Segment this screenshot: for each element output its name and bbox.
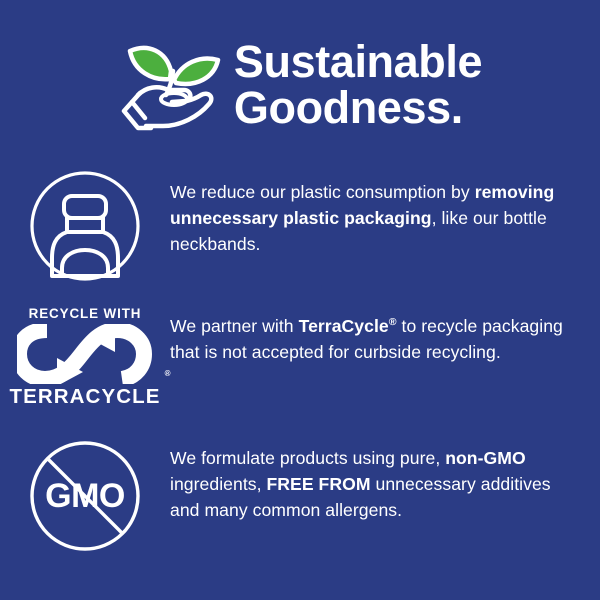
feature-icon-slot: RECYCLE WITH TERRACYCLE ® (0, 302, 170, 409)
feature-text-run: We formulate products using pure, (170, 448, 445, 468)
no-gmo-circle-icon: GMO (29, 440, 141, 552)
feature-text-non-gmo: We formulate products using pure, non-GM… (170, 438, 600, 524)
sustainable-goodness-infographic: Sustainable Goodness. We reduce our plas… (0, 0, 600, 600)
feature-row-terracycle: RECYCLE WITH TERRACYCLE ® We partner wit… (0, 302, 600, 409)
feature-text-plastic-reduction: We reduce our plastic consumption by rem… (170, 168, 600, 258)
registered-mark-icon: ® (389, 316, 397, 328)
terracycle-wordmark: TERRACYCLE ® (9, 385, 160, 409)
feature-text-run-bold: FREE FROM (267, 474, 371, 494)
terracycle-bottom-label: TERRACYCLE (9, 385, 160, 409)
registered-mark-icon: ® (165, 369, 171, 378)
feature-icon-slot: GMO (0, 438, 170, 552)
hand-holding-sprout-icon (118, 33, 226, 139)
bottle-neckband-circle-icon (29, 170, 141, 282)
feature-text-terracycle: We partner with TerraCycle® to recycle p… (170, 302, 600, 366)
feature-text-run: We partner with (170, 316, 299, 336)
feature-text-run-bold: TerraCycle (299, 316, 389, 336)
page-title: Sustainable Goodness. (234, 39, 482, 132)
gmo-label: GMO (29, 440, 141, 552)
header: Sustainable Goodness. (0, 24, 600, 144)
infinity-recycle-arrows-icon (17, 324, 153, 384)
feature-row-plastic-reduction: We reduce our plastic consumption by rem… (0, 168, 600, 282)
terracycle-top-label: RECYCLE WITH (29, 306, 142, 321)
feature-row-non-gmo: GMO We formulate products using pure, no… (0, 438, 600, 552)
feature-text-run-bold: non-GMO (445, 448, 525, 468)
feature-text-run: We reduce our plastic consumption by (170, 182, 475, 202)
terracycle-logo: RECYCLE WITH TERRACYCLE ® (11, 306, 159, 409)
feature-text-run: ingredients, (170, 474, 267, 494)
feature-icon-slot (0, 168, 170, 282)
